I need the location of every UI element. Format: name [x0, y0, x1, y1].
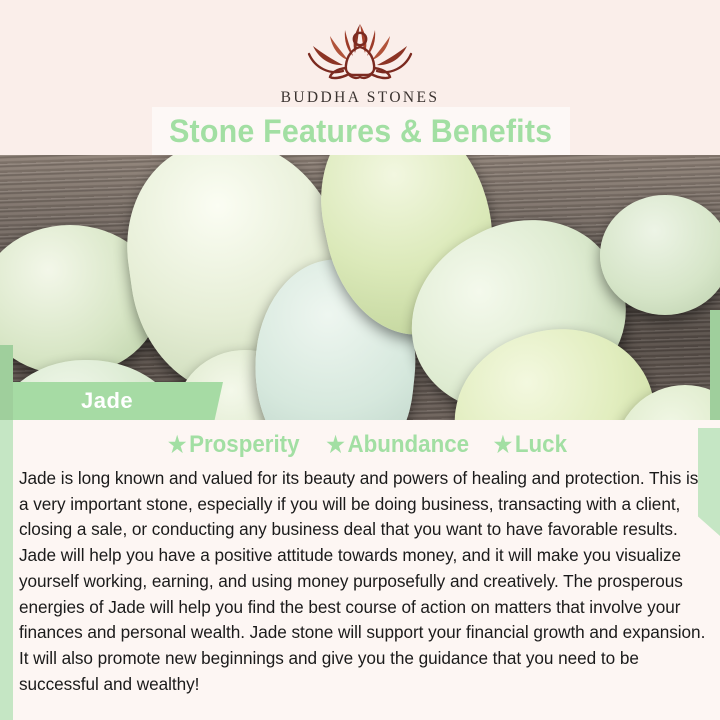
star-icon: ★	[168, 432, 186, 457]
brand-name: BUDDHA STONES	[0, 89, 720, 107]
page-title: Stone Features & Benefits	[169, 113, 552, 150]
benefit-item: ★Abundance	[327, 431, 470, 459]
star-icon: ★	[494, 432, 512, 457]
benefit-label: Prosperity	[189, 431, 299, 458]
stone-description: Jade is long known and valued for its be…	[19, 466, 711, 697]
decor-green-right-photo	[710, 310, 720, 420]
decor-green-left-strip	[0, 420, 13, 720]
lotus-meditation-icon	[285, 16, 435, 88]
benefit-label: Abundance	[348, 431, 470, 458]
product-info-card: BUDDHA STONES Stone Features & Benefits …	[0, 0, 720, 720]
stone-name: Jade	[81, 388, 133, 414]
content-panel: ★Prosperity ★Abundance ★Luck Jade is lon…	[13, 420, 720, 720]
star-icon: ★	[327, 432, 345, 457]
stone-photo	[0, 155, 720, 420]
brand-logo: BUDDHA STONES	[0, 16, 720, 107]
stone-item	[600, 195, 720, 315]
stone-name-band: Jade	[13, 382, 223, 420]
benefit-item: ★Prosperity	[168, 431, 300, 459]
benefit-label: Luck	[515, 431, 567, 458]
benefit-item: ★Luck	[494, 431, 567, 459]
benefits-row: ★Prosperity ★Abundance ★Luck	[13, 431, 720, 459]
title-banner: Stone Features & Benefits	[152, 107, 570, 155]
